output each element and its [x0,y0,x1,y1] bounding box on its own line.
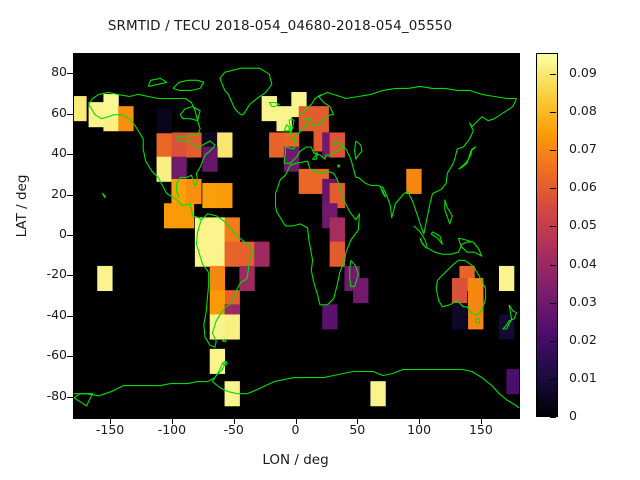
data-cell [254,242,269,267]
x-axis-label: LON / deg [73,452,518,468]
data-cell [210,349,225,374]
data-cell [225,242,240,267]
colorbar-tick-label: 0.01 [569,372,625,385]
y-tick-mark [67,114,73,115]
data-cell [157,108,172,133]
data-cell [506,369,519,394]
data-cell [157,132,172,157]
data-cell [499,266,514,291]
data-cell [262,96,277,121]
data-cell [225,314,240,339]
data-cell [330,242,345,267]
y-tick-label: -60 [27,349,67,362]
data-cell [217,183,232,208]
data-cell [118,106,133,131]
y-tick-mark [67,154,73,155]
y-tick-label: 0 [27,228,67,241]
data-cell [210,217,225,242]
chart-title: SRMTID / TECU 2018-054_04680-2018-054_05… [0,18,560,34]
x-tick-mark [296,418,297,424]
y-tick-label: -40 [27,309,67,322]
data-cell [89,102,104,127]
y-tick-mark [67,235,73,236]
data-cell [452,304,467,329]
data-cell [97,266,112,291]
data-cell [171,179,186,204]
x-tick-mark [172,418,173,424]
map-svg [74,54,519,418]
data-cell [299,106,314,131]
x-tick-mark [481,418,482,424]
data-cell [171,157,186,182]
data-cell [452,278,467,303]
colorbar-tick-label: 0.06 [569,181,625,194]
y-tick-mark [67,397,73,398]
colorbar-tick-label: 0 [569,410,625,423]
colorbar-tick-label: 0.05 [569,219,625,232]
x-tick-mark [419,418,420,424]
colorbar-tick-label: 0.07 [569,143,625,156]
colorbar-tick-label: 0.04 [569,258,625,271]
colorbar-tick-mark [550,74,556,75]
x-tick-label: 150 [451,424,511,437]
data-cell [74,96,87,121]
colorbar-tick-mark [550,265,556,266]
y-tick-label: -80 [27,390,67,403]
data-cell [370,381,385,406]
y-tick-label: 20 [27,188,67,201]
data-cell [164,203,179,228]
colorbar-tick-label: 0.03 [569,296,625,309]
y-tick-mark [67,73,73,74]
data-cell [468,304,483,329]
y-tick-mark [67,275,73,276]
y-tick-mark [67,356,73,357]
x-tick-label: 0 [266,424,326,437]
colorbar-tick-mark [550,150,556,151]
y-tick-mark [67,316,73,317]
colorbar-tick-mark [550,112,556,113]
colorbar-tick-mark [550,341,556,342]
x-tick-label: 50 [327,424,387,437]
colorbar[interactable]: 00.010.020.030.040.050.060.070.080.09 [536,53,558,417]
y-tick-label: 60 [27,107,67,120]
colorbar-tick-mark [550,303,556,304]
x-tick-label: -50 [204,424,264,437]
x-tick-mark [110,418,111,424]
colorbar-tick-mark [550,417,556,418]
y-axis-label: LAT / deg [14,146,30,266]
y-tick-label: 40 [27,147,67,160]
colorbar-gradient [536,53,558,417]
data-cell [269,132,284,157]
y-tick-mark [67,195,73,196]
x-tick-label: 100 [389,424,449,437]
data-cell [217,132,232,157]
data-cell [406,169,421,194]
data-cell [299,169,314,194]
x-axis-ticks: -150-100-50050100150 [73,424,518,444]
colorbar-tick-mark [550,379,556,380]
x-tick-mark [357,418,358,424]
x-tick-label: -150 [80,424,140,437]
x-tick-label: -100 [142,424,202,437]
y-tick-label: -20 [27,268,67,281]
map-plot-area[interactable] [73,53,520,419]
colorbar-tick-label: 0.02 [569,334,625,347]
colorbar-tick-label: 0.09 [569,67,625,80]
data-cell [353,278,368,303]
x-tick-mark [234,418,235,424]
figure-canvas: SRMTID / TECU 2018-054_04680-2018-054_05… [0,0,640,480]
data-cell [210,242,225,267]
y-tick-label: 80 [27,66,67,79]
data-cell [210,266,225,291]
data-cell [179,203,194,228]
data-cell [171,132,186,157]
colorbar-tick-label: 0.08 [569,105,625,118]
data-cell [330,217,345,242]
colorbar-tick-mark [550,226,556,227]
data-cell [322,304,337,329]
data-cell [284,147,299,172]
data-cell [202,183,217,208]
colorbar-tick-mark [550,188,556,189]
